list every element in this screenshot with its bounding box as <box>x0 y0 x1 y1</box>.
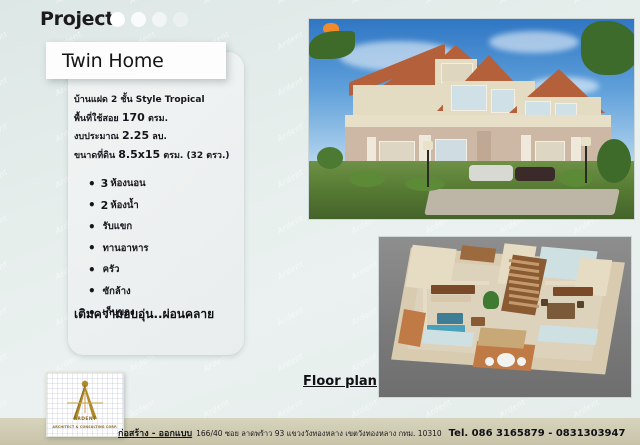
list-item: • ครัว <box>88 262 149 277</box>
page-title: Project <box>40 8 114 30</box>
bullet-icon: • <box>88 178 96 190</box>
spec-row: พื้นที่ใช้สอย 170 ตรม. <box>74 111 249 125</box>
watermark-text: Ardent <box>128 397 157 419</box>
bullet-icon: • <box>88 242 96 254</box>
watermark-text: Ardent <box>0 213 9 235</box>
watermark-text: Ardent <box>424 0 453 6</box>
spec-unit: ตรม. <box>148 114 168 124</box>
title-card: Twin Home <box>46 42 226 79</box>
watermark-text: Ardent <box>276 397 305 419</box>
watermark-text: Ardent <box>498 397 527 419</box>
spec-label: ขนาดที่ดิน <box>74 151 115 161</box>
feature-label: ซักล้าง <box>103 284 131 299</box>
watermark-text: Ardent <box>0 121 9 143</box>
watermark-text: Ardent <box>350 351 379 373</box>
spec-label: พื้นที่ใช้สอย <box>74 114 119 124</box>
watermark-text: Ardent <box>572 397 601 419</box>
footer-contact: ก่อสร้าง - ออกแบบ 166/40 ซอย ลาดพร้าว 93… <box>118 426 625 440</box>
header-dot-3 <box>152 12 167 27</box>
header-dot-2 <box>131 12 146 27</box>
watermark-text: Ardent <box>276 0 305 6</box>
footer-telephone: Tel. 086 3165879 - 0831303947 <box>449 428 626 439</box>
feature-label: ครัว <box>103 262 120 277</box>
watermark-text: Ardent <box>276 213 305 235</box>
feature-label: ห้องนอน <box>110 176 145 191</box>
list-item: • รับแขก <box>88 219 149 234</box>
feature-count: 2 <box>101 199 109 212</box>
floorplan-label: Floor plan <box>303 374 377 389</box>
spec-unit: ตรม. (32 ตรว.) <box>163 151 229 161</box>
footer-address: 166/40 ซอย ลาดพร้าว 93 แขวงวังทองหลาง เข… <box>196 428 442 440</box>
watermark-text: Ardent <box>0 305 9 327</box>
feature-label: ห้องน้ำ <box>110 198 138 213</box>
watermark-text: Ardent <box>0 259 9 281</box>
watermark-text: Ardent <box>350 305 379 327</box>
feature-label: ทานอาหาร <box>103 241 149 256</box>
watermark-text: Ardent <box>276 259 305 281</box>
watermark-text: Ardent <box>54 0 83 6</box>
header-dot-1 <box>110 12 125 27</box>
slide-canvas: ArdentArdentArdentArdentArdentArdentArde… <box>0 0 640 445</box>
bullet-icon: • <box>88 285 96 297</box>
watermark-text: Ardent <box>54 351 83 373</box>
watermark-text: Ardent <box>0 397 9 419</box>
watermark-text: Ardent <box>276 121 305 143</box>
bullet-icon: • <box>88 221 96 233</box>
list-item: • ทานอาหาร <box>88 241 149 256</box>
spec-value: 2.25 <box>122 129 149 142</box>
watermark-text: Ardent <box>350 259 379 281</box>
feature-list: • 3 ห้องนอน • 2 ห้องน้ำ • รับแขก • ทานอา… <box>88 176 149 327</box>
list-item: • ซักล้าง <box>88 284 149 299</box>
watermark-text: Ardent <box>0 0 9 6</box>
watermark-text: Ardent <box>276 305 305 327</box>
watermark-text: Ardent <box>498 0 527 6</box>
watermark-text: Ardent <box>350 0 379 6</box>
spec-value: 170 <box>122 111 145 124</box>
exterior-photo <box>308 18 635 220</box>
spec-row: งบประมาณ 2.25 ลบ. <box>74 129 249 143</box>
list-item: • 3 ห้องนอน <box>88 176 149 191</box>
tagline: เติมความอบอุ่น..ผ่อนคลาย <box>74 305 214 324</box>
watermark-text: Ardent <box>350 397 379 419</box>
feature-count: 3 <box>101 177 109 190</box>
title-card-label: Twin Home <box>46 50 164 72</box>
watermark-text: Ardent <box>202 0 231 6</box>
watermark-text: Ardent <box>0 351 9 373</box>
watermark-text: Ardent <box>572 0 601 6</box>
spec-row: ขนาดที่ดิน 8.5x15 ตรม. (32 ตรว.) <box>74 148 249 162</box>
bullet-icon: • <box>88 264 96 276</box>
footer-heading: ก่อสร้าง - ออกแบบ <box>118 426 192 440</box>
watermark-text: Ardent <box>0 29 9 51</box>
spec-label: งบประมาณ <box>74 132 119 142</box>
spec-row: บ้านแฝด 2 ชั้น Style Tropical <box>74 92 249 106</box>
watermark-text: Ardent <box>276 29 305 51</box>
watermark-text: Ardent <box>276 167 305 189</box>
watermark-text: Ardent <box>202 397 231 419</box>
header-dots <box>110 12 188 27</box>
header-dot-4 <box>173 12 188 27</box>
watermark-text: Ardent <box>0 75 9 97</box>
bullet-icon: • <box>88 199 96 211</box>
logo-subtitle: ARCHITECT & CONSULTING CORP. <box>47 425 123 429</box>
compass-icon <box>47 379 123 421</box>
floorplan-photo <box>378 236 632 398</box>
watermark-text: Ardent <box>128 0 157 6</box>
spec-text: บ้านแฝด 2 ชั้น Style Tropical <box>74 95 205 105</box>
feature-label: รับแขก <box>103 219 133 234</box>
list-item: • 2 ห้องน้ำ <box>88 198 149 213</box>
watermark-text: Ardent <box>0 167 9 189</box>
watermark-text: Ardent <box>276 351 305 373</box>
spec-list: บ้านแฝด 2 ชั้น Style Tropical พื้นที่ใช้… <box>74 92 249 166</box>
company-logo: ARDENT ARCHITECT & CONSULTING CORP. <box>46 372 124 437</box>
watermark-text: Ardent <box>276 75 305 97</box>
logo-name: ARDENT <box>47 417 123 422</box>
spec-value: 8.5x15 <box>118 148 160 161</box>
spec-unit: ลบ. <box>152 132 167 142</box>
watermark-text: Ardent <box>424 397 453 419</box>
